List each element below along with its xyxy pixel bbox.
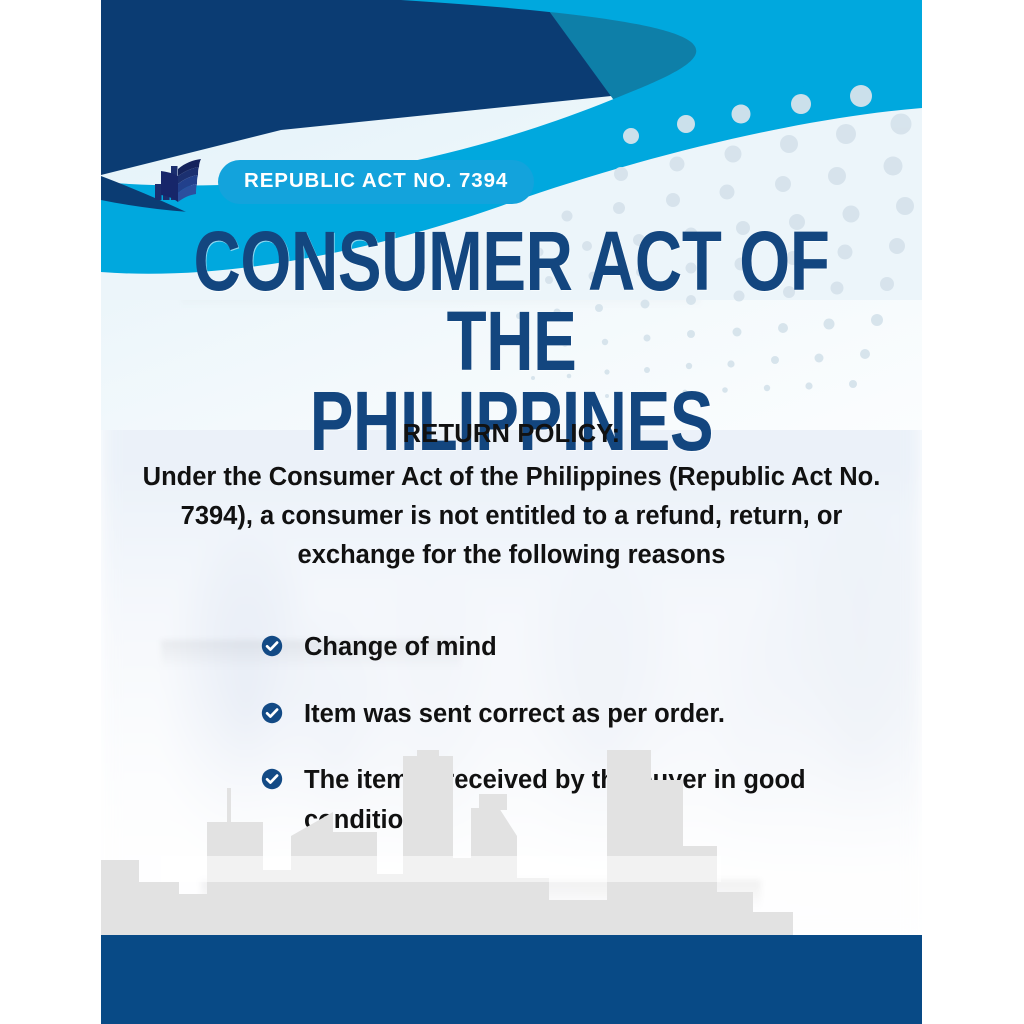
open-book-icon [152, 157, 204, 207]
list-item-label: Item was sent correct as per order. [304, 695, 725, 735]
poster-canvas: REPUBLIC ACT NO. 7394 CONSUMER ACT OF TH… [0, 0, 1024, 1024]
return-policy-heading: RETURN POLICY: [101, 420, 922, 449]
act-number-badge[interactable]: REPUBLIC ACT NO. 7394 [218, 160, 534, 204]
check-circle-icon [261, 702, 283, 724]
city-skyline-silhouette [101, 750, 922, 940]
act-badge-row: REPUBLIC ACT NO. 7394 [152, 157, 534, 207]
footer-bar [101, 935, 922, 1024]
list-item-label: Change of mind [304, 628, 497, 668]
return-policy-body: Under the Consumer Act of the Philippine… [121, 458, 902, 575]
list-item: Change of mind [261, 628, 901, 668]
check-circle-icon [261, 635, 283, 657]
poster-card: REPUBLIC ACT NO. 7394 CONSUMER ACT OF TH… [101, 0, 922, 1024]
list-item: Item was sent correct as per order. [261, 695, 901, 735]
page-title-line1: CONSUMER ACT OF THE [191, 222, 831, 382]
